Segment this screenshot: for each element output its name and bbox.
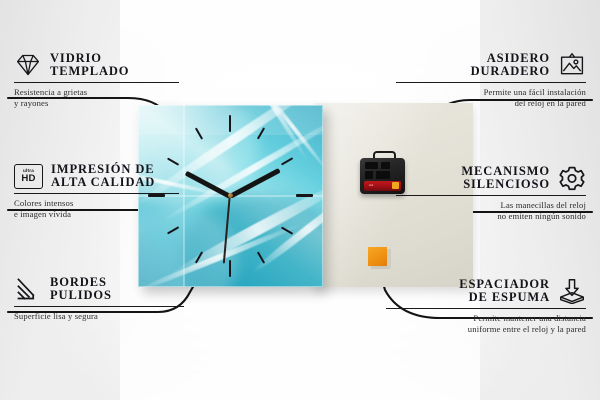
- mechanism-detail-b: [381, 162, 390, 169]
- feature-rule: [396, 195, 586, 197]
- feature-rule: [14, 82, 179, 84]
- spacer-press-icon: [558, 278, 586, 304]
- mechanism-detail-a: [365, 162, 378, 169]
- feature-desc-line1: Las manecillas del reloj: [396, 200, 586, 211]
- feature-title-line1: ESPACIADOR: [459, 278, 550, 291]
- ultra-hd-icon-big-text: HD: [21, 174, 35, 184]
- feature-asidero-duradero: ASIDERO DURADERO Permite una fácil insta…: [396, 52, 586, 110]
- battery-label: AA: [369, 183, 374, 187]
- feature-head: VIDRIO TEMPLADO: [14, 52, 189, 79]
- feature-head: ultra HD IMPRESIÓN DE ALTA CALIDAD: [14, 163, 189, 190]
- feature-title-line1: BORDES: [50, 276, 112, 289]
- feature-bordes-pulidos: BORDES PULIDOS Superficie lisa y segura: [14, 276, 194, 322]
- foam-spacer: [368, 247, 387, 266]
- picture-hanger-icon: [558, 52, 586, 78]
- feature-rule: [396, 82, 586, 84]
- feature-title-line1: MECANISMO: [461, 165, 550, 178]
- feature-titles: ESPACIADOR DE ESPUMA: [459, 278, 550, 305]
- feature-desc-line2: y rayones: [14, 98, 189, 109]
- feature-desc-line2: del reloj en la pared: [396, 98, 586, 109]
- feature-espaciador-de-espuma: ESPACIADOR DE ESPUMA Permite mantener un…: [386, 278, 586, 336]
- feature-rule: [14, 193, 179, 195]
- feature-desc-line1: Colores intensos: [14, 198, 189, 209]
- feature-title-line1: VIDRIO: [50, 52, 129, 65]
- gear-icon: [558, 165, 586, 191]
- feature-desc-line1: Permite mantener una distancia: [386, 313, 586, 324]
- feature-title-line1: ASIDERO: [471, 52, 550, 65]
- feature-head: ESPACIADOR DE ESPUMA: [386, 278, 586, 305]
- feature-title-line2: SILENCIOSO: [461, 178, 550, 191]
- feature-title-line2: ALTA CALIDAD: [51, 176, 155, 189]
- feature-desc-line1: Permite una fácil instalación: [396, 87, 586, 98]
- feature-titles: BORDES PULIDOS: [50, 276, 112, 303]
- feature-title-line2: PULIDOS: [50, 289, 112, 302]
- diamond-icon: [14, 52, 42, 78]
- feature-head: BORDES PULIDOS: [14, 276, 194, 303]
- feature-rule: [386, 308, 586, 310]
- feature-title-line2: DURADERO: [471, 65, 550, 78]
- feature-titles: ASIDERO DURADERO: [471, 52, 550, 79]
- polished-edges-icon: [14, 276, 42, 302]
- feature-title-line2: TEMPLADO: [50, 65, 129, 78]
- feature-titles: MECANISMO SILENCIOSO: [461, 165, 550, 192]
- feature-impresion-alta-calidad: ultra HD IMPRESIÓN DE ALTA CALIDAD Color…: [14, 163, 189, 221]
- ultra-hd-icon: ultra HD: [14, 164, 43, 189]
- mechanism-detail-d: [376, 171, 390, 179]
- feature-rule: [14, 306, 184, 308]
- feature-desc-line1: Superficie lisa y segura: [14, 311, 194, 322]
- feature-head: ASIDERO DURADERO: [396, 52, 586, 79]
- infographic-canvas: AA: [0, 0, 600, 400]
- feature-desc-line2: uniforme entre el reloj y la pared: [386, 324, 586, 335]
- feature-vidrio-templado: VIDRIO TEMPLADO Resistencia a grietas y …: [14, 52, 189, 110]
- feature-head: MECANISMO SILENCIOSO: [396, 165, 586, 192]
- feature-title-line1: IMPRESIÓN DE: [51, 163, 155, 176]
- feature-title-line2: DE ESPUMA: [459, 291, 550, 304]
- mechanism-detail-c: [365, 171, 373, 179]
- feature-titles: VIDRIO TEMPLADO: [50, 52, 129, 79]
- feature-titles: IMPRESIÓN DE ALTA CALIDAD: [51, 163, 155, 190]
- feature-mecanismo-silencioso: MECANISMO SILENCIOSO Las manecillas del …: [396, 165, 586, 223]
- feature-desc-line2: e imagen vívida: [14, 209, 189, 220]
- feature-desc-line1: Resistencia a grietas: [14, 87, 189, 98]
- feature-desc-line2: no emiten ningún sonido: [396, 211, 586, 222]
